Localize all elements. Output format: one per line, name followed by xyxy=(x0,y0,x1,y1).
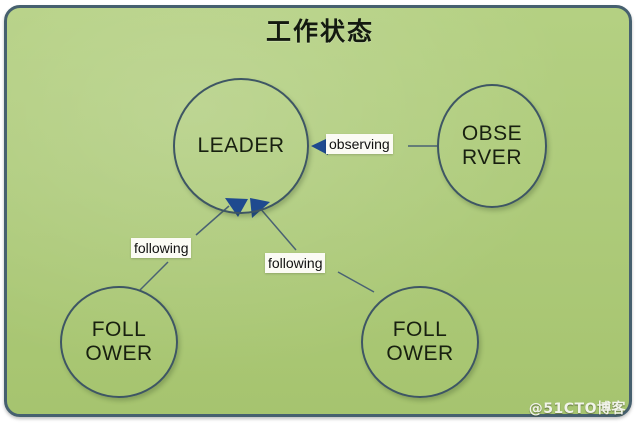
node-observer-label-line2: RVER xyxy=(462,146,522,170)
node-follower-left-label-line1: FOLL xyxy=(92,318,147,342)
node-leader[interactable]: LEADER xyxy=(173,78,309,214)
edge-label-following-left: following xyxy=(131,238,191,258)
node-follower-right-label-line1: FOLL xyxy=(393,318,448,342)
node-follower-left-label-line2: OWER xyxy=(85,342,152,366)
node-follower-right[interactable]: FOLL OWER xyxy=(361,286,479,398)
node-leader-label: LEADER xyxy=(197,134,284,158)
node-follower-left[interactable]: FOLL OWER xyxy=(60,286,178,398)
node-observer[interactable]: OBSE RVER xyxy=(437,84,547,208)
node-observer-label-line1: OBSE xyxy=(462,122,522,146)
watermark: @51CTO博客 xyxy=(529,398,626,418)
node-follower-right-label-line2: OWER xyxy=(386,342,453,366)
edge-label-following-right: following xyxy=(265,253,325,273)
diagram-root: 工作状态 LEADER OBSE RVER FOLL OWER FOLL OWE… xyxy=(0,0,640,427)
diagram-title: 工作状态 xyxy=(0,12,640,48)
edge-label-observing: observing xyxy=(326,134,393,154)
